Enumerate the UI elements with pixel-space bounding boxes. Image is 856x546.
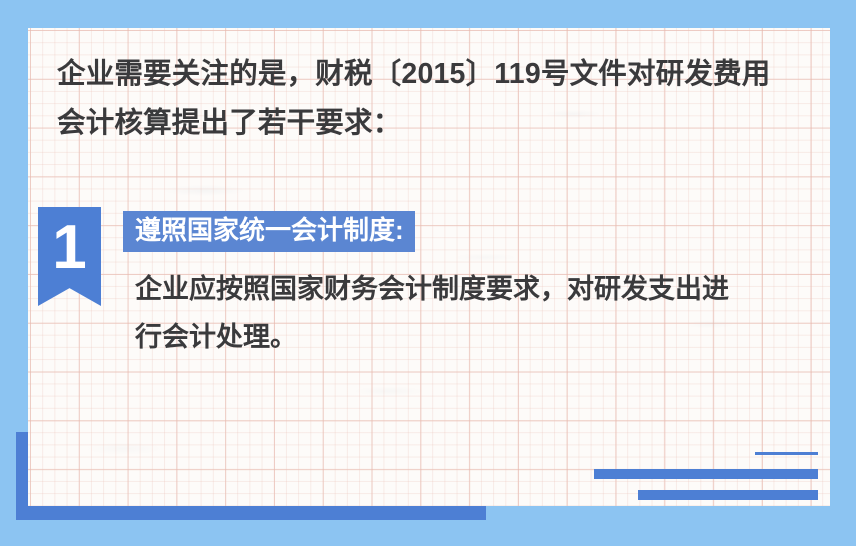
intro-line-1: 企业需要关注的是，财税〔2015〕119号文件对研发费用 bbox=[57, 58, 770, 90]
paper-card: 企业需要关注的是，财税〔2015〕119号文件对研发费用 会计核算提出了若干要求… bbox=[28, 28, 830, 506]
item-body-paragraph: 企业应按照国家财务会计制度要求，对研发支出进 行会计处理。 bbox=[135, 265, 815, 361]
intro-paragraph: 企业需要关注的是，财税〔2015〕119号文件对研发费用 会计核算提出了若干要求… bbox=[57, 50, 805, 148]
decorative-rule-medium-thick bbox=[638, 490, 818, 500]
ribbon-badge-number: 1 bbox=[38, 211, 101, 285]
item-body-line-1: 企业应按照国家财务会计制度要求，对研发支出进 bbox=[135, 274, 729, 304]
decorative-rule-long-thick bbox=[594, 469, 818, 479]
ribbon-badge-icon: 1 bbox=[38, 207, 101, 306]
item-body-line-2: 行会计处理。 bbox=[135, 313, 815, 361]
decorative-rule-short-thin bbox=[755, 452, 818, 455]
intro-line-2: 会计核算提出了若干要求： bbox=[57, 99, 805, 148]
item-heading: 遵照国家统一会计制度: bbox=[123, 211, 415, 252]
